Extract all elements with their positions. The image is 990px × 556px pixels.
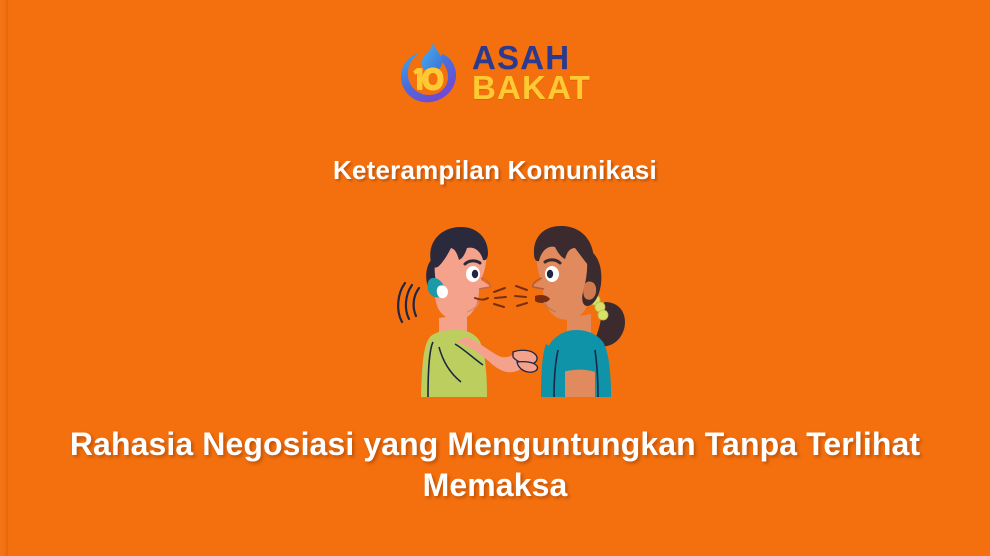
girl-speaking bbox=[532, 226, 625, 397]
category-label: Keterampilan Komunikasi bbox=[0, 155, 990, 186]
boy-listening bbox=[398, 227, 537, 397]
flame-droplet-10-icon bbox=[399, 40, 461, 106]
brand-line-bakat: BAKAT bbox=[472, 73, 591, 103]
speech-marks-left bbox=[494, 288, 506, 307]
headline-title: Rahasia Negosiasi yang Menguntungkan Tan… bbox=[60, 424, 930, 506]
speech-marks-right bbox=[515, 286, 527, 306]
brand-wordmark: ASAH BAKAT bbox=[472, 43, 591, 104]
brand-logo: ASAH BAKAT bbox=[0, 34, 990, 112]
slide-canvas: ASAH BAKAT Keterampilan Komunikasi bbox=[0, 0, 990, 556]
two-people-talking-illustration bbox=[395, 222, 635, 397]
